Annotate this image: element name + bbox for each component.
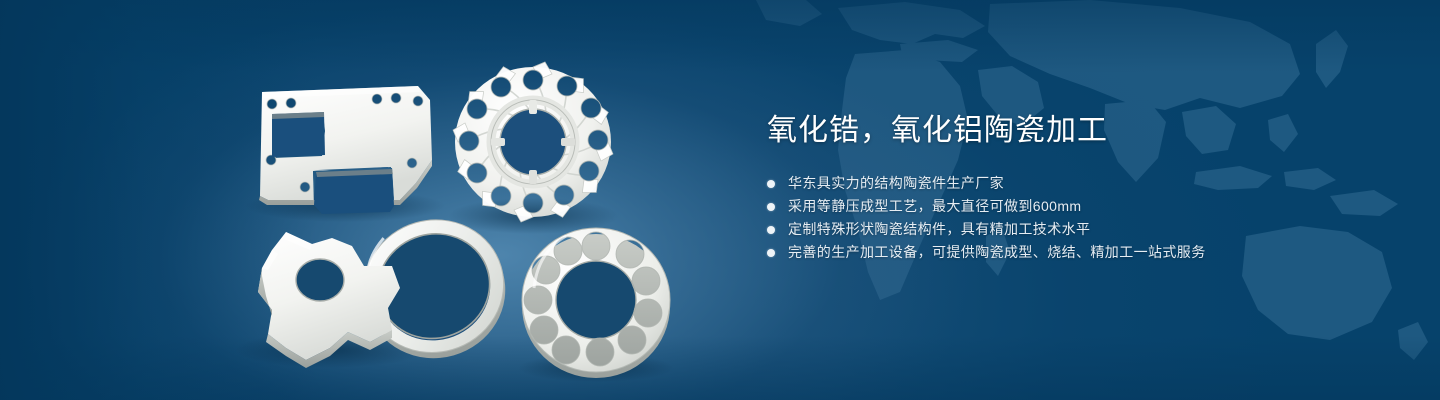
bullet-dot-icon [767, 226, 775, 234]
ceramic-perforated-disc-shape [522, 228, 670, 378]
feature-item: 采用等静压成型工艺，最大直径可做到600mm [767, 195, 1387, 218]
banner-copy: 氧化锆，氧化铝陶瓷加工 华东具实力的结构陶瓷件生产厂家 采用等静压成型工艺，最大… [767, 112, 1387, 264]
feature-item: 华东具实力的结构陶瓷件生产厂家 [767, 172, 1387, 195]
ceramic-impeller-shape [453, 62, 613, 222]
ceramic-products-photo [0, 0, 760, 400]
ceramic-plate-shape [259, 86, 432, 214]
banner-headline: 氧化锆，氧化铝陶瓷加工 [767, 112, 1387, 150]
bullet-dot-icon [767, 249, 775, 257]
feature-text: 定制特殊形状陶瓷结构件，具有精加工技术水平 [788, 218, 1090, 241]
feature-list: 华东具实力的结构陶瓷件生产厂家 采用等静压成型工艺，最大直径可做到600mm 定… [767, 172, 1387, 264]
feature-text: 采用等静压成型工艺，最大直径可做到600mm [788, 195, 1081, 218]
feature-item: 定制特殊形状陶瓷结构件，具有精加工技术水平 [767, 218, 1387, 241]
feature-text: 完善的生产加工设备，可提供陶瓷成型、烧结、精加工一站式服务 [788, 241, 1206, 264]
promo-banner: 氧化锆，氧化铝陶瓷加工 华东具实力的结构陶瓷件生产厂家 采用等静压成型工艺，最大… [0, 0, 1440, 400]
bullet-dot-icon [767, 180, 775, 188]
bullet-dot-icon [767, 203, 775, 211]
feature-item: 完善的生产加工设备，可提供陶瓷成型、烧结、精加工一站式服务 [767, 241, 1387, 264]
feature-text: 华东具实力的结构陶瓷件生产厂家 [788, 172, 1004, 195]
